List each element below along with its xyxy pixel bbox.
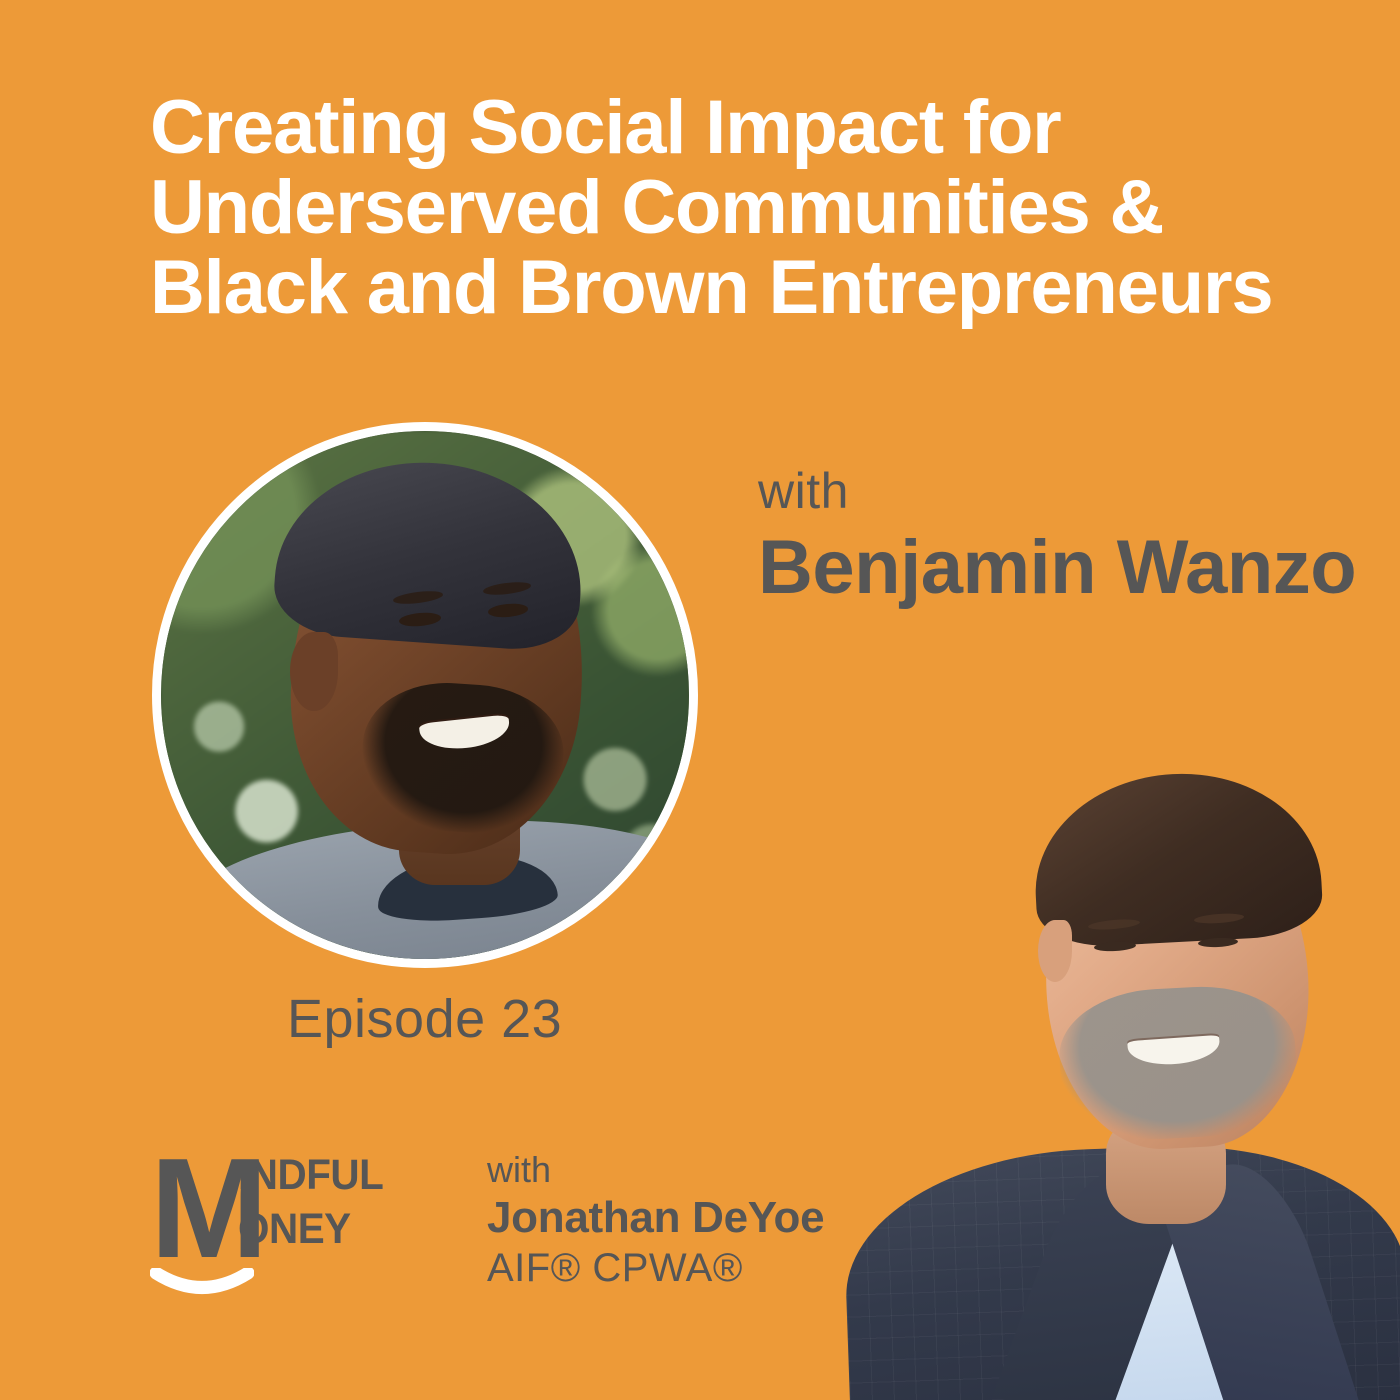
episode-title: Creating Social Impact for Underserved C… [150,88,1340,328]
title-line-2: Underserved Communities & [150,168,1340,248]
title-line-1: Creating Social Impact for [150,88,1340,168]
guest-name: Benjamin Wanzo [758,524,1356,611]
guest-photo [152,422,698,968]
logo-word-top: INDFUL [238,1154,383,1197]
podcast-cover-art: Creating Social Impact for Underserved C… [0,0,1400,1400]
host-credit: with Jonathan DeYoe AIF® CPWA® [487,1148,824,1292]
host-hair [1030,767,1324,950]
guest-with-label: with [758,462,849,520]
episode-number: Episode 23 [287,988,562,1050]
guest-ear [290,632,338,711]
mindful-money-logo: M INDFUL ONEY [150,1150,470,1300]
host-ear [1038,920,1072,982]
host-credentials: AIF® CPWA® [487,1244,824,1292]
smile-arc-icon [150,1268,254,1298]
logo-word-bottom: ONEY [238,1208,351,1251]
host-with-label: with [487,1148,824,1192]
host-name: Jonathan DeYoe [487,1192,824,1244]
title-line-3: Black and Brown Entrepreneurs [150,248,1340,328]
host-photo [838,752,1400,1400]
